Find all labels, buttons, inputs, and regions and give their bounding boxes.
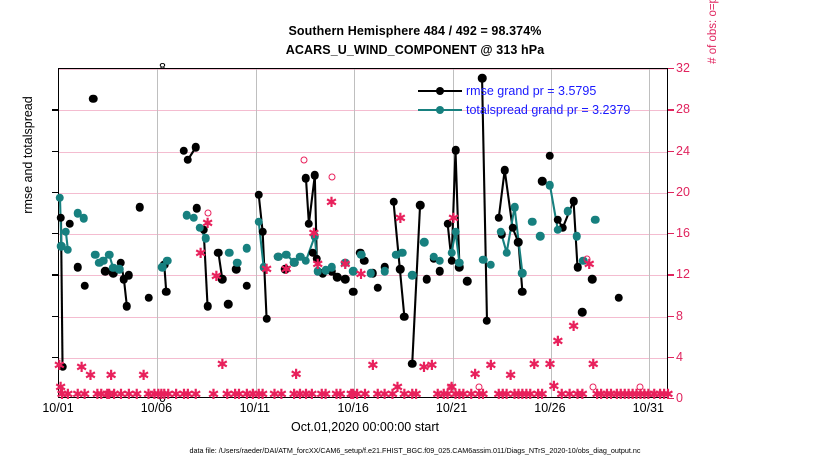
- legend-item-totalspread: totalspread grand pr = 3.2379: [418, 100, 630, 119]
- data-point-obs_assimilated: ✱: [410, 388, 422, 402]
- data-point-obs_assimilated: ✱: [79, 388, 91, 402]
- data-point-rmse: [436, 267, 445, 276]
- series-line-rmse: [306, 175, 317, 258]
- data-point-totalspread: [201, 234, 210, 243]
- data-point-totalspread: [243, 244, 252, 253]
- data-point-rmse: [554, 215, 563, 224]
- data-point-obs_assimilated: ✱: [54, 359, 66, 373]
- data-point-obs_assimilated: ✱: [339, 258, 351, 272]
- gridline-horizontal: [59, 317, 667, 318]
- data-point-obs_assimilated: ✱: [552, 335, 564, 349]
- data-point-totalspread: [591, 215, 600, 224]
- data-point-rmse: [495, 213, 504, 222]
- data-point-obs_assimilated: ✱: [202, 217, 214, 231]
- data-point-obs_possible: [300, 156, 307, 163]
- data-point-rmse: [408, 360, 417, 369]
- data-point-rmse: [341, 275, 350, 284]
- data-point-rmse: [184, 156, 193, 165]
- data-point-rmse: [192, 143, 201, 152]
- data-point-totalspread: [190, 213, 199, 222]
- data-point-obs_assimilated: ✱: [395, 212, 407, 226]
- series-line-rmse: [259, 195, 267, 319]
- data-point-rmse: [135, 203, 144, 212]
- data-point-totalspread: [64, 245, 73, 254]
- data-point-totalspread: [518, 269, 527, 278]
- data-point-totalspread: [91, 250, 100, 259]
- data-point-totalspread: [302, 257, 311, 266]
- data-point-rmse: [224, 300, 233, 309]
- series-line-rmse: [61, 218, 63, 367]
- y-tick-label-right: 12: [676, 267, 716, 281]
- data-point-obs_assimilated: ✱: [290, 368, 302, 382]
- data-point-totalspread: [282, 250, 291, 259]
- data-point-obs_assimilated: ✱: [257, 388, 269, 402]
- data-point-rmse: [258, 228, 267, 237]
- data-point-rmse: [569, 197, 578, 206]
- data-point-obs_assimilated: ✱: [195, 247, 207, 261]
- data-point-obs_possible: [328, 174, 335, 181]
- data-point-totalspread: [56, 193, 65, 202]
- data-point-rmse: [508, 224, 517, 233]
- data-point-obs_assimilated: ✱: [208, 388, 220, 402]
- y-tick-mark-right: [668, 357, 674, 358]
- data-point-rmse: [180, 146, 189, 155]
- data-point-obs_assimilated: ✱: [477, 388, 489, 402]
- data-point-totalspread: [163, 257, 172, 266]
- data-point-obs_assimilated: ✱: [568, 320, 580, 334]
- data-file-footer: data file: /Users/raeder/DAI/ATM_forcXX/…: [0, 446, 830, 455]
- title-line-2: ACARS_U_WIND_COMPONENT @ 313 hPa: [0, 41, 830, 60]
- x-tick-label: 10/26: [515, 401, 585, 415]
- x-tick-label: 10/16: [318, 401, 388, 415]
- data-point-rmse: [546, 151, 555, 160]
- data-point-obs_assimilated: ✱: [469, 368, 481, 382]
- data-point-obs_assimilated: ✱: [312, 258, 324, 272]
- chart-title: Southern Hemisphere 484 / 492 = 98.374% …: [0, 22, 830, 60]
- data-point-rmse: [463, 277, 472, 286]
- y-tick-label-right: 32: [676, 61, 716, 75]
- data-point-totalspread: [510, 203, 519, 212]
- title-line-1: Southern Hemisphere 484 / 492 = 98.374%: [0, 22, 830, 41]
- y-tick-mark-right: [668, 274, 674, 275]
- gridline-vertical: [256, 69, 257, 397]
- y-tick-mark-right: [668, 316, 674, 317]
- data-point-rmse: [500, 166, 509, 175]
- data-point-obs_assimilated: ✱: [359, 388, 371, 402]
- data-point-rmse: [57, 213, 66, 222]
- x-tick-label: 10/31: [613, 401, 683, 415]
- data-point-totalspread: [546, 181, 555, 190]
- data-point-totalspread: [497, 228, 506, 237]
- data-point-rmse: [416, 201, 425, 210]
- data-point-totalspread: [367, 269, 376, 278]
- data-point-rmse: [262, 314, 271, 323]
- data-point-totalspread: [451, 228, 460, 237]
- gridline-vertical: [157, 69, 158, 397]
- y-tick-label-right: 20: [676, 185, 716, 199]
- data-point-rmse: [514, 238, 523, 247]
- series-line-totalspread: [60, 198, 61, 247]
- data-point-obs_assimilated: ✱: [544, 358, 556, 372]
- y-tick-label-right: 24: [676, 144, 716, 158]
- y-tick-label-right: 28: [676, 102, 716, 116]
- data-point-obs_assimilated: ✱: [662, 388, 674, 402]
- y-tick-mark-right: [668, 151, 674, 152]
- data-point-totalspread: [455, 259, 464, 268]
- data-point-totalspread: [572, 232, 581, 241]
- data-point-obs_assimilated: ✱: [485, 359, 497, 373]
- data-point-obs_assimilated: ✱: [577, 388, 589, 402]
- data-point-rmse: [203, 302, 212, 311]
- gridline-horizontal: [59, 69, 667, 70]
- data-point-obs_assimilated: ✱: [308, 227, 320, 241]
- data-point-totalspread: [563, 207, 572, 216]
- chart-page: { "title": { "line1": "Southern Hemisphe…: [0, 0, 830, 470]
- legend-swatch-totalspread: [418, 103, 462, 117]
- data-point-rmse: [254, 191, 263, 200]
- data-point-obs_assimilated: ✱: [261, 263, 273, 277]
- y-tick-label-right: 16: [676, 226, 716, 240]
- data-point-totalspread: [554, 226, 563, 235]
- data-point-totalspread: [225, 248, 234, 257]
- data-point-totalspread: [398, 248, 407, 257]
- data-point-rmse: [89, 94, 98, 103]
- data-point-rmse: [615, 294, 624, 303]
- gridline-vertical: [354, 69, 355, 397]
- x-axis-label: Oct.01,2020 00:00:00 start: [0, 420, 730, 434]
- data-point-totalspread: [357, 250, 366, 259]
- data-point-rmse: [214, 248, 223, 257]
- data-point-rmse: [389, 198, 398, 207]
- data-point-obs_assimilated: ✱: [105, 369, 117, 383]
- data-point-totalspread: [105, 250, 114, 259]
- data-point-rmse: [66, 219, 75, 228]
- legend-label-totalspread: totalspread grand pr = 3.2379: [466, 103, 630, 117]
- data-point-rmse: [80, 281, 89, 290]
- y-axis-label-left: rmse and totalspread: [21, 0, 35, 320]
- y-tick-label-right: 4: [676, 350, 716, 364]
- data-point-obs_assimilated: ✱: [426, 359, 438, 373]
- data-point-rmse: [192, 204, 201, 213]
- data-point-rmse: [588, 275, 597, 284]
- data-point-rmse: [400, 312, 409, 321]
- data-point-totalspread: [233, 259, 242, 268]
- y-tick-label-right: 8: [676, 309, 716, 323]
- data-point-rmse: [349, 288, 358, 297]
- data-point-rmse: [578, 308, 587, 317]
- data-point-rmse: [518, 288, 527, 297]
- y-tick-mark-right: [668, 192, 674, 193]
- data-point-rmse: [483, 316, 492, 325]
- data-point-totalspread: [327, 263, 336, 272]
- data-point-rmse: [144, 294, 153, 303]
- data-point-obs_assimilated: ✱: [505, 369, 517, 383]
- data-point-obs_assimilated: ✱: [536, 388, 548, 402]
- data-point-totalspread: [436, 257, 445, 266]
- data-point-rmse: [120, 275, 129, 284]
- data-point-totalspread: [447, 248, 456, 257]
- gridline-vertical: [649, 69, 650, 397]
- data-point-obs_assimilated: ✱: [275, 388, 287, 402]
- gridline-horizontal: [59, 152, 667, 153]
- data-point-totalspread: [254, 217, 263, 226]
- data-point-obs_assimilated: ✱: [448, 212, 460, 226]
- legend-label-rmse: rmse grand pr = 3.5795: [466, 84, 596, 98]
- data-point-rmse: [451, 146, 460, 155]
- x-tick-label: 10/21: [417, 401, 487, 415]
- gridline-horizontal: [59, 193, 667, 194]
- data-point-totalspread: [528, 217, 537, 226]
- data-point-obs_assimilated: ✱: [85, 369, 97, 383]
- data-point-rmse: [396, 265, 405, 274]
- data-point-obs_assimilated: ✱: [211, 270, 223, 284]
- data-point-totalspread: [62, 228, 71, 237]
- data-point-rmse: [73, 263, 82, 272]
- data-point-totalspread: [380, 267, 389, 276]
- data-point-rmse: [123, 302, 132, 311]
- x-tick-label: 10/11: [220, 401, 290, 415]
- data-point-rmse: [311, 171, 320, 180]
- chart-legend: rmse grand pr = 3.5795 totalspread grand…: [418, 81, 630, 119]
- data-point-obs_assimilated: ✱: [583, 258, 595, 272]
- x-tick-label: 10/01: [23, 401, 93, 415]
- data-point-obs_assimilated: ✱: [355, 268, 367, 282]
- data-point-totalspread: [487, 261, 496, 270]
- data-point-obs_assimilated: ✱: [138, 369, 150, 383]
- data-point-obs_assimilated: ✱: [587, 358, 599, 372]
- data-point-totalspread: [115, 265, 124, 274]
- data-point-obs_assimilated: ✱: [131, 388, 143, 402]
- data-point-totalspread: [79, 214, 88, 223]
- legend-item-rmse: rmse grand pr = 3.5795: [418, 81, 630, 100]
- x-tick-label: 10/06: [121, 401, 191, 415]
- y-tick-mark-right: [668, 68, 674, 69]
- y-tick-mark-right: [668, 233, 674, 234]
- data-point-rmse: [162, 288, 171, 297]
- data-point-rmse: [302, 174, 311, 183]
- data-point-obs_assimilated: ✱: [280, 263, 292, 277]
- data-point-obs_assimilated: ✱: [326, 196, 338, 210]
- data-point-obs_assimilated: ✱: [367, 359, 379, 373]
- data-point-totalspread: [420, 238, 429, 247]
- legend-swatch-rmse: [418, 84, 462, 98]
- data-point-totalspread: [536, 232, 545, 241]
- data-point-rmse: [374, 283, 383, 292]
- data-point-obs_assimilated: ✱: [190, 388, 202, 402]
- data-point-totalspread: [502, 248, 511, 257]
- data-point-obs_assimilated: ✱: [528, 358, 540, 372]
- data-point-obs_assimilated: ✱: [216, 358, 228, 372]
- y-tick-mark-right: [668, 109, 674, 110]
- series-line-rmse: [412, 205, 420, 364]
- data-point-rmse: [423, 275, 432, 284]
- gridline-horizontal: [59, 358, 667, 359]
- data-point-rmse: [243, 281, 252, 290]
- data-point-totalspread: [408, 271, 417, 280]
